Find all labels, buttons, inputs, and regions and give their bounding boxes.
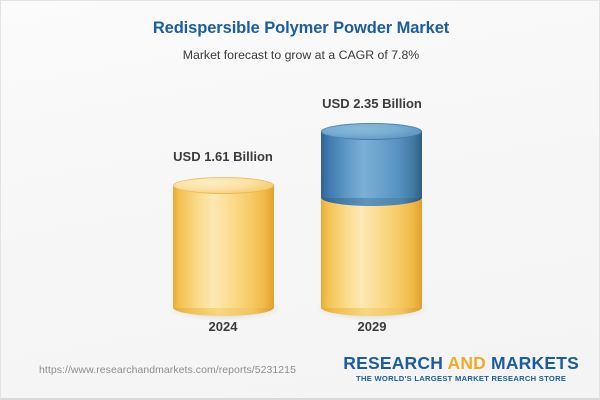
- bar-segment-base-2024: [173, 177, 274, 308]
- report-url-link[interactable]: https://www.researchandmarkets.com/repor…: [39, 364, 296, 376]
- logo-wordmark: RESEARCH AND MARKETS: [343, 354, 579, 372]
- bar-value-label-2029: USD 2.35 Billion: [282, 96, 462, 111]
- bar-segment-growth-2029: [321, 123, 422, 198]
- logo-tagline: THE WORLD'S LARGEST MARKET RESEARCH STOR…: [343, 374, 579, 383]
- bar-cylinder-2024[interactable]: [173, 177, 274, 308]
- cylinder-top-cap-icon: [173, 177, 274, 194]
- bar-category-label-2029: 2029: [282, 319, 462, 334]
- cylinder-body-2024: [173, 185, 274, 308]
- logo-word-markets: MARKETS: [486, 353, 579, 373]
- cylinder-top-cap-icon: [321, 123, 422, 140]
- footer: https://www.researchandmarkets.com/repor…: [1, 343, 600, 398]
- logo-word-and: AND: [447, 353, 486, 373]
- market-forecast-chart-card: Redispersible Polymer Powder Market Mark…: [0, 0, 600, 400]
- cylinder-body-growth-2029: [321, 131, 422, 198]
- logo-word-research: RESEARCH: [343, 353, 447, 373]
- bar-cylinder-2029[interactable]: [321, 123, 422, 308]
- bar-value-label-2024: USD 1.61 Billion: [133, 149, 313, 164]
- research-and-markets-logo[interactable]: RESEARCH AND MARKETS THE WORLD'S LARGEST…: [343, 354, 579, 383]
- chart-plot-area: USD 1.61 Billion 2024 USD 2.35 Billion: [1, 1, 600, 346]
